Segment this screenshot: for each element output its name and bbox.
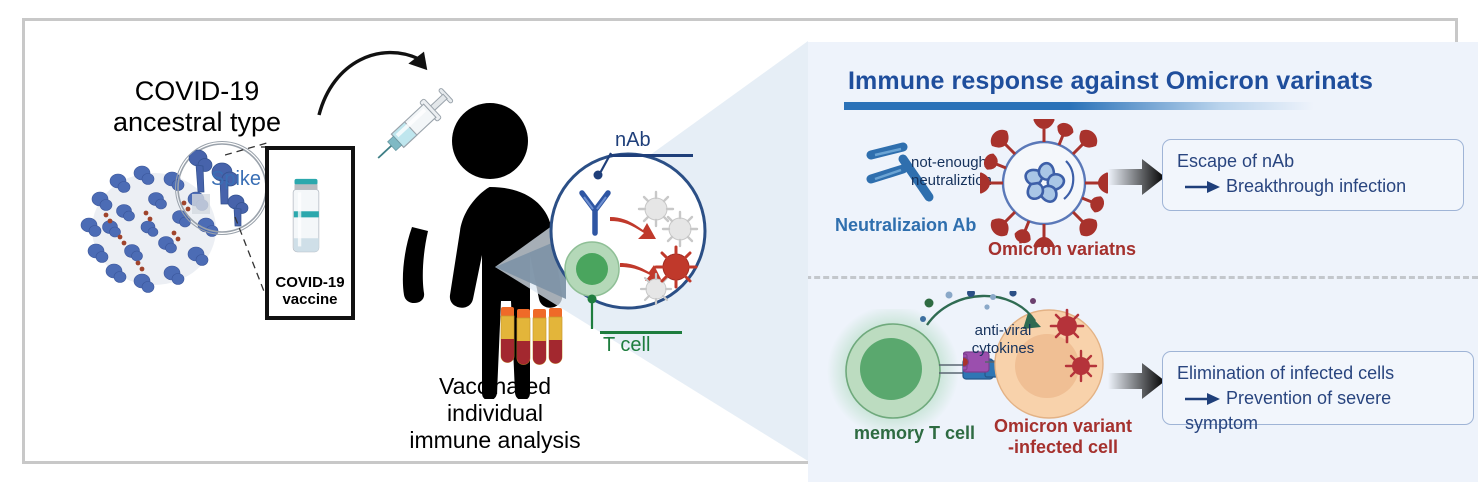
omicron-infected-cell-label: Omicron variant-infected cell [988,416,1138,458]
inline-arrow-icon [1185,180,1221,194]
omicron-variants-label: Omicron variatns [988,239,1136,260]
vaccine-vial-label: COVID-19vaccine [269,274,351,308]
escape-line-1: Escape of nAb [1177,149,1451,174]
omicron-virus-icon [656,247,696,287]
escape-result-box: Escape of nAb Breakthrough infection [1162,139,1464,211]
panel-title: Immune response against Omicron varinats [848,67,1373,96]
black-arrow-icon-2 [1108,361,1166,401]
panel-divider [808,276,1478,279]
inline-arrow-icon-2 [1185,392,1221,406]
vaccine-vial-icon [281,156,331,276]
panel-title-underline [844,102,1314,110]
escape-line-2: Breakthrough infection [1226,176,1406,196]
figure-canvas: COVID-19ancestral type [0,0,1480,486]
figure-frame: COVID-19ancestral type [22,18,1458,464]
neutralization-ab-label: Neutralizaion Ab [835,215,976,236]
black-arrow-icon [1108,157,1166,197]
elimination-line-2-row: Prevention of severe symptom [1177,386,1461,436]
omicron-variant-virus-icon [980,119,1108,247]
nab-underline [611,154,693,157]
escape-line-2-row: Breakthrough infection [1177,174,1451,199]
anti-viral-cytokines-label: anti-viralcytokines [955,322,1051,358]
tcell-label: T cell [603,334,650,357]
elimination-result-box: Elimination of infected cells Prevention… [1162,351,1474,425]
elimination-line-1: Elimination of infected cells [1177,361,1461,386]
memory-t-cell-label: memory T cell [854,423,975,444]
vaccine-vial-box: COVID-19vaccine [265,146,355,320]
nab-label: nAb [615,129,651,152]
